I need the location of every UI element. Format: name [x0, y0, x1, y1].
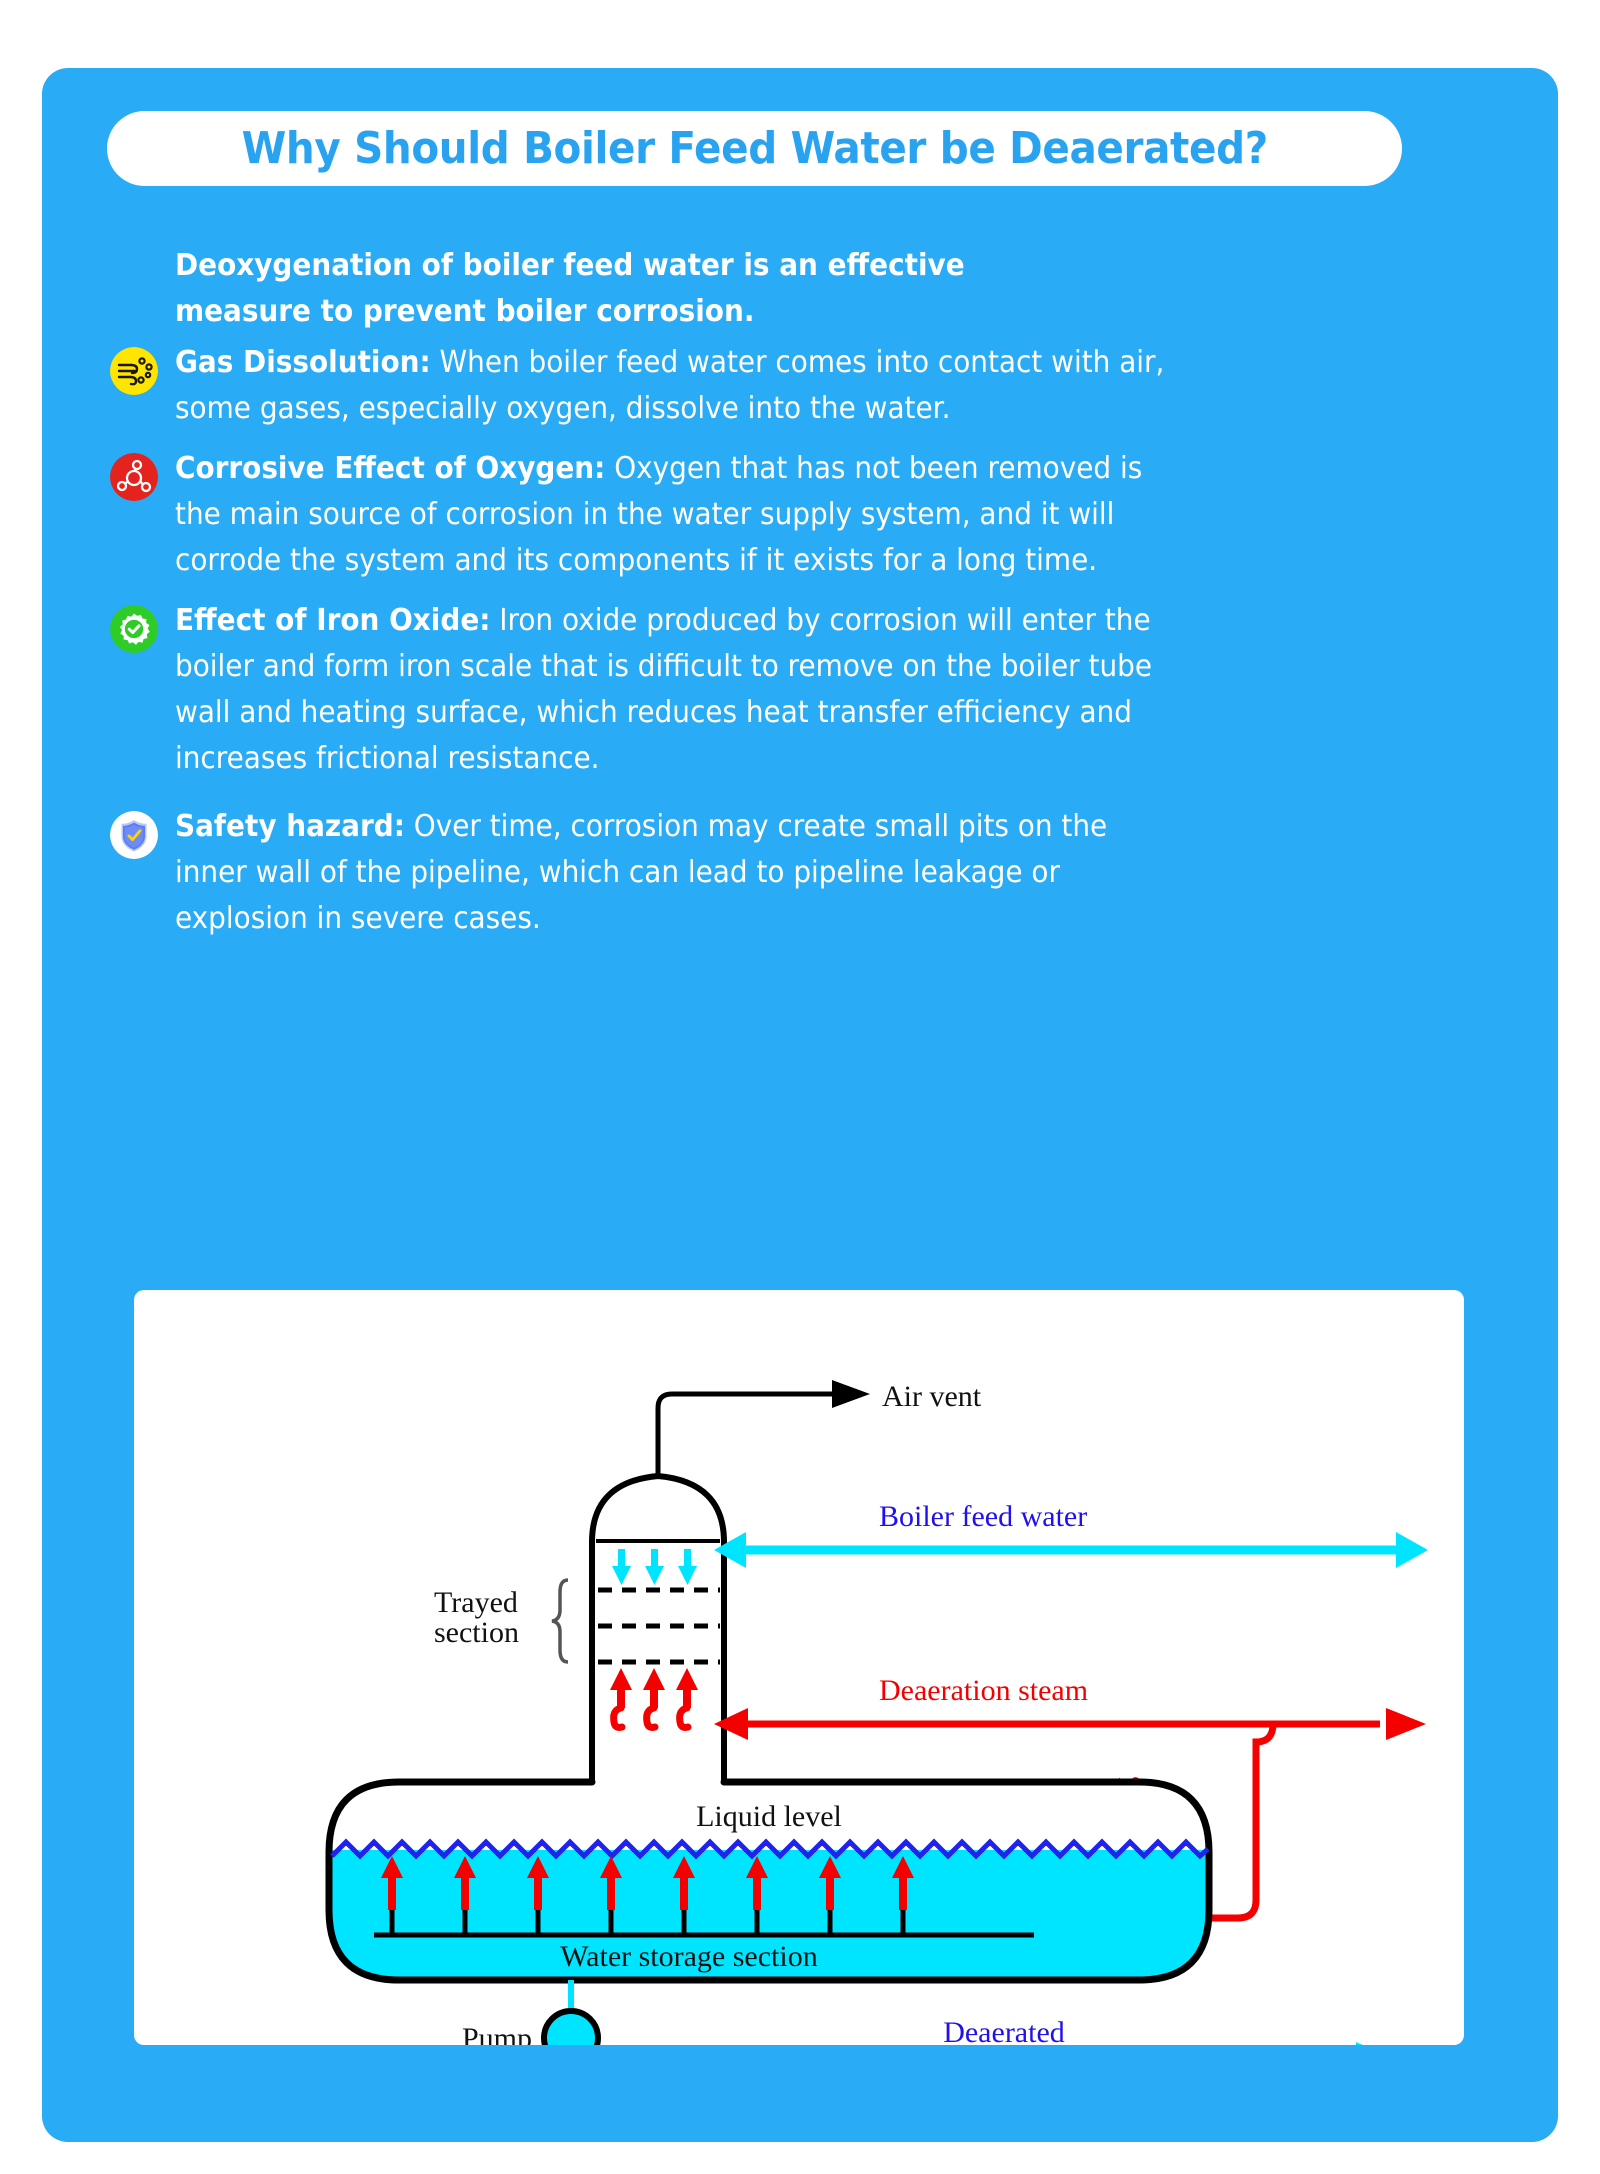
gear-check-icon	[110, 605, 158, 653]
label-boiler-feed-water: Boiler feed water	[879, 1500, 1087, 1533]
intro-text: Deoxygenation of boiler feed water is an…	[175, 243, 1105, 335]
molecule-icon	[110, 453, 158, 501]
gas-dissolution-icon	[110, 347, 158, 395]
trayed-section-brace	[552, 1580, 568, 1662]
title-pill: Why Should Boiler Feed Water be Deaerate…	[107, 111, 1402, 186]
bullet-corrosive-effect: Corrosive Effect of Oxygen: Oxygen that …	[110, 446, 1150, 584]
pump-icon	[544, 2011, 611, 2045]
label-trayed-section-line1: Trayed	[434, 1586, 518, 1619]
shield-check-icon	[110, 811, 158, 859]
bullet-list: Gas Dissolution: When boiler feed water …	[110, 340, 1150, 956]
deaeration-steam-arrow	[714, 1708, 1426, 1740]
label-deaerated-line1: Deaerated	[943, 2016, 1065, 2045]
bullet-label: Safety hazard:	[175, 809, 405, 844]
label-air-vent: Air vent	[882, 1380, 982, 1413]
page-title: Why Should Boiler Feed Water be Deaerate…	[241, 123, 1267, 174]
label-pump: Pump	[462, 2022, 532, 2045]
deaerator-diagram-card: Air vent	[134, 1290, 1464, 2045]
deaerator-diagram: Air vent	[134, 1290, 1464, 2045]
bullet-label: Gas Dissolution:	[175, 345, 431, 380]
bullet-iron-oxide: Effect of Iron Oxide: Iron oxide produce…	[110, 598, 1150, 782]
label-water-storage-section: Water storage section	[560, 1940, 817, 1973]
steam-rising-arrows	[610, 1668, 698, 1727]
label-deaeration-steam: Deaeration steam	[879, 1674, 1088, 1707]
label-trayed-section-line2: section	[434, 1616, 519, 1649]
boiler-feedwater-arrow	[714, 1532, 1428, 1568]
bullet-label: Effect of Iron Oxide:	[175, 603, 490, 638]
bullet-safety-hazard: Safety hazard: Over time, corrosion may …	[110, 804, 1150, 942]
deaerator-column	[592, 1476, 724, 1782]
label-liquid-level: Liquid level	[696, 1800, 842, 1833]
bullet-label: Corrosive Effect of Oxygen:	[175, 451, 605, 486]
bullet-gas-dissolution: Gas Dissolution: When boiler feed water …	[110, 340, 1150, 432]
poster-card: Why Should Boiler Feed Water be Deaerate…	[42, 68, 1558, 2142]
